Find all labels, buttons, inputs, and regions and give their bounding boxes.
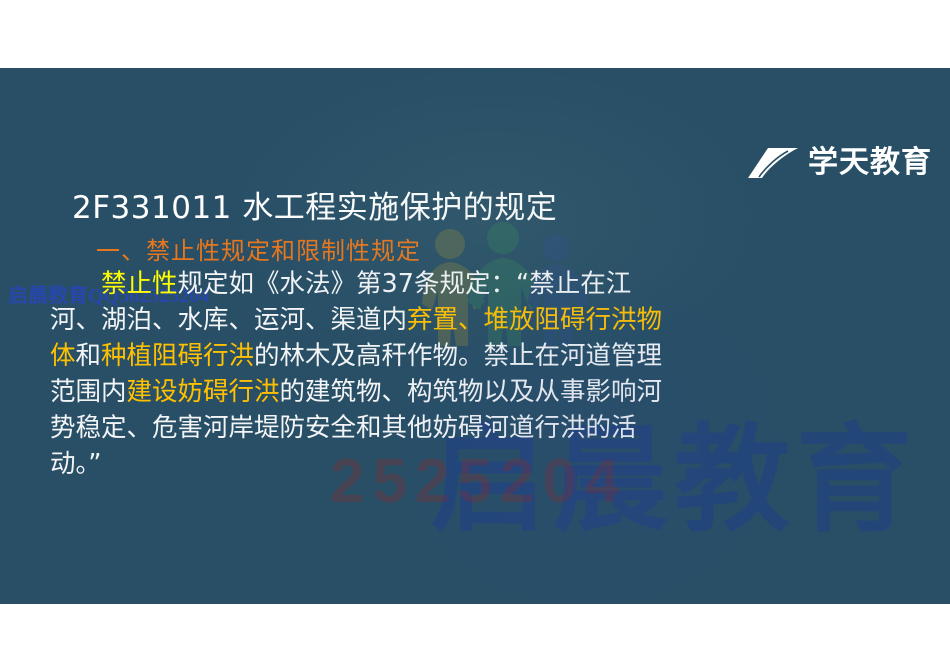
road-swoosh-icon [746,146,800,180]
brand-logo: 学天教育 [746,146,932,180]
body-paragraph: 禁止性规定如《水法》第37条规定：“禁止在江河、湖泊、水库、运河、渠道内弃置、堆… [50,266,670,482]
slide-content-panel: 启晨教育 2525204 启晨教育QQ502525204 学天教育 2F3310… [0,68,950,604]
page-title: 2F331011 水工程实施保护的规定 [72,182,557,227]
body-segment-yellow: 禁止性 [101,269,178,299]
body-segment-plain: 和 [76,341,102,371]
body-segment-gold: 建设妨碍行洪 [127,377,280,407]
slide-canvas: 启晨教育 2525204 启晨教育QQ502525204 学天教育 2F3310… [0,0,950,672]
body-segment-gold: 种植阻碍行洪 [101,341,254,371]
brand-wordmark: 学天教育 [808,148,932,178]
section-subheading: 一、禁止性规定和限制性规定 [96,231,421,266]
body-segment-plain [50,269,101,299]
body-paragraph-text: 禁止性规定如《水法》第37条规定：“禁止在江河、湖泊、水库、运河、渠道内弃置、堆… [50,266,670,482]
